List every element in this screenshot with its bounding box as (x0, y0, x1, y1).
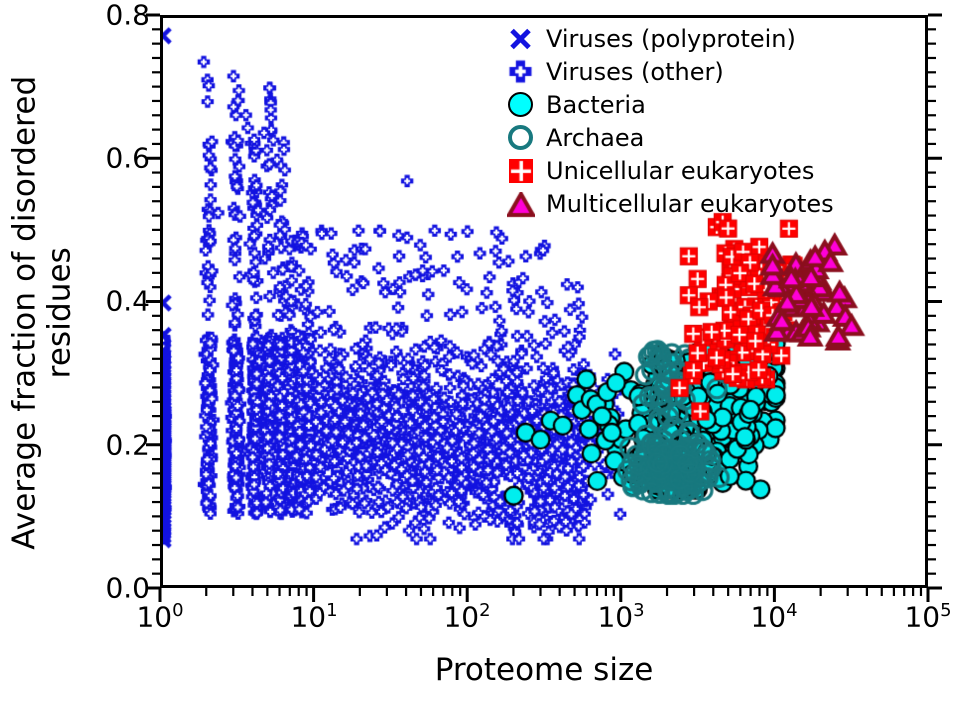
y-tick-label: 0.8 (50, 0, 150, 32)
legend-item-multicellular-eukaryotes[interactable]: Multicellular eukaryotes (500, 187, 880, 220)
x-axis-title: Proteome size (160, 652, 928, 688)
legend-item-bacteria[interactable]: Bacteria (500, 88, 880, 121)
x-tick-label: 105 (904, 600, 951, 633)
scatter-plot-figure: Average fraction of disordered residues … (0, 0, 957, 706)
legend-label: Bacteria (546, 91, 646, 119)
y-tick-label: 0.4 (50, 285, 150, 318)
x-tick-label: 104 (750, 600, 797, 633)
y-tick-label: 0.0 (50, 572, 150, 605)
legend-label: Unicellular eukaryotes (546, 157, 814, 185)
square-grid-icon (500, 154, 546, 187)
legend-label: Archaea (546, 124, 644, 152)
legend-item-viruses-other[interactable]: Viruses (other) (500, 55, 880, 88)
legend-item-viruses-polyprotein[interactable]: Viruses (polyprotein) (500, 22, 880, 55)
y-axis-tick-labels: 0.8 0.6 0.4 0.2 0.0 (30, 0, 150, 706)
y-tick-label: 0.6 (50, 142, 150, 175)
legend: Viruses (polyprotein) Viruses (other) Ba… (500, 22, 880, 220)
triangle-icon (500, 187, 546, 220)
x-tick-label: 102 (443, 600, 490, 633)
legend-item-archaea[interactable]: Archaea (500, 121, 880, 154)
x-cross-icon (500, 22, 546, 55)
circle-filled-icon (500, 88, 546, 121)
legend-label: Viruses (other) (546, 58, 724, 86)
x-tick-label: 100 (136, 600, 183, 633)
legend-label: Multicellular eukaryotes (546, 190, 834, 218)
legend-item-unicellular-eukaryotes[interactable]: Unicellular eukaryotes (500, 154, 880, 187)
x-tick-label: 101 (290, 600, 337, 633)
x-tick-label: 103 (597, 600, 644, 633)
y-tick-label: 0.2 (50, 429, 150, 462)
legend-label: Viruses (polyprotein) (546, 25, 796, 53)
plus-box-icon (500, 55, 546, 88)
circle-open-icon (500, 121, 546, 154)
